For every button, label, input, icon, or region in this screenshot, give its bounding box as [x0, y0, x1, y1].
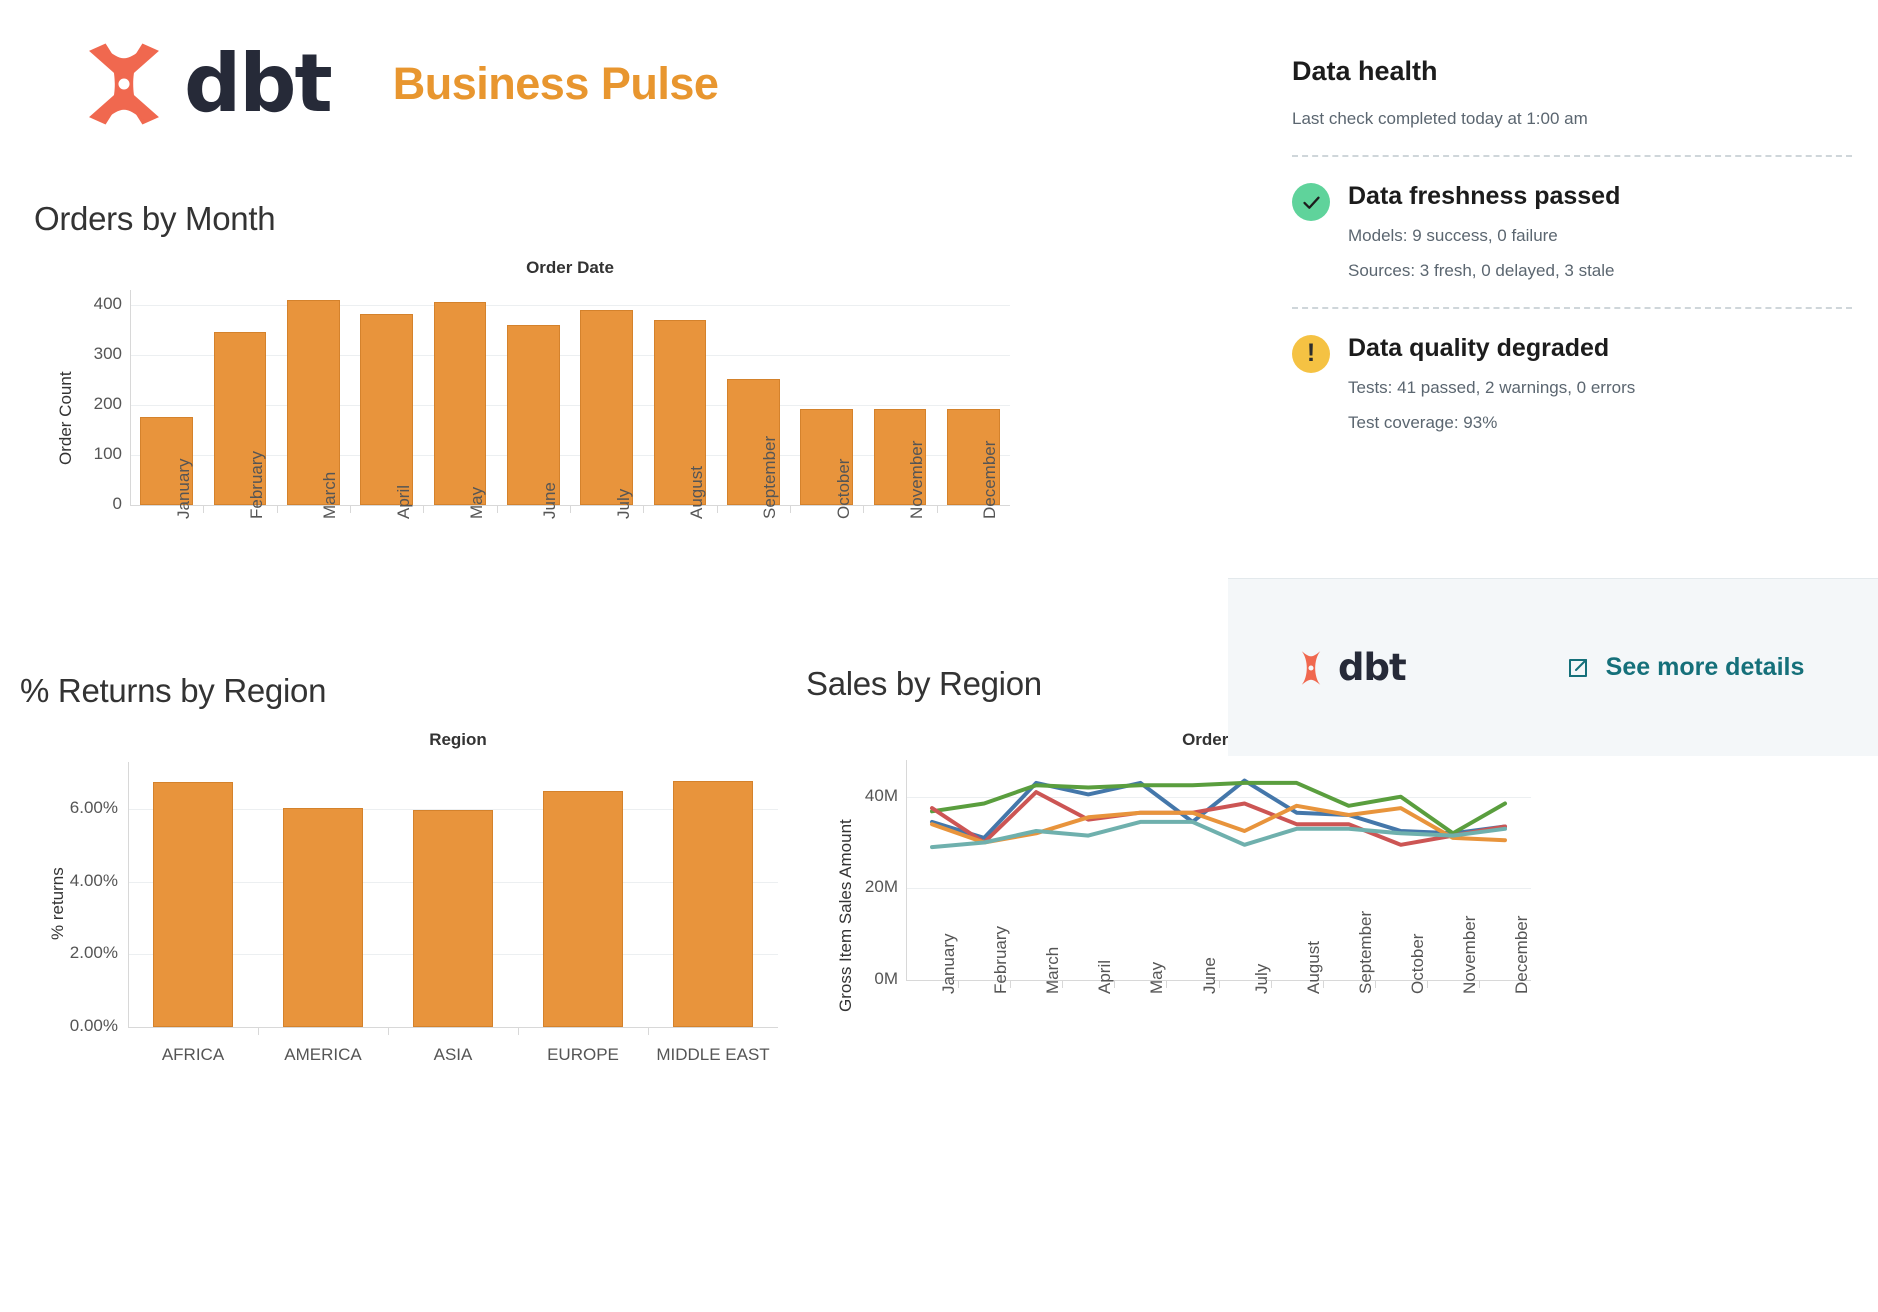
x-tick [350, 505, 351, 513]
x-tick [717, 505, 718, 513]
orders-by-month-chart: Order Date Order Count 0100200300400Janu… [0, 250, 1030, 650]
x-axis-label: November [1460, 916, 1480, 994]
x-tick [518, 1027, 519, 1035]
x-axis-label: April [1095, 960, 1115, 994]
x-axis-label: April [394, 485, 414, 519]
data-health-item-freshness: Data freshness passed Models: 9 success,… [1292, 181, 1852, 281]
warning-circle-icon: ! [1292, 335, 1330, 373]
y-tick-label: 300 [64, 344, 122, 364]
y-tick-label: 0 [64, 494, 122, 514]
y-tick-label: 0.00% [20, 1016, 118, 1036]
status-heading: Data freshness passed [1348, 181, 1620, 211]
x-axis-label: January [174, 459, 194, 519]
sales-by-region-chart: Order Date Gross Item Sales Amount 0M20M… [806, 722, 1878, 1112]
x-tick [790, 505, 791, 513]
bar[interactable] [413, 810, 494, 1027]
dashboard-header: dbt Business Pulse [78, 38, 718, 130]
sales-plot-area: 0M20M40MJanuaryFebruaryMarchAprilMayJune… [906, 760, 1531, 980]
status-detail: Tests: 41 passed, 2 warnings, 0 errors [1348, 378, 1635, 398]
status-detail: Test coverage: 93% [1348, 413, 1635, 433]
dashboard-page: dbt Business Pulse Orders by Month % Ret… [0, 0, 1878, 1312]
page-title: Business Pulse [393, 58, 719, 110]
x-tick [648, 1027, 649, 1035]
orders-chart-subtitle: Order Date [130, 258, 1010, 278]
bar[interactable] [283, 808, 364, 1027]
dbt-wordmark: dbt [184, 44, 331, 124]
x-axis-label: September [760, 436, 780, 519]
x-tick [937, 505, 938, 513]
bar[interactable] [360, 314, 413, 505]
x-axis-label: March [320, 472, 340, 519]
bar[interactable] [153, 782, 234, 1027]
dbt-wordmark: dbt [1338, 646, 1406, 689]
x-tick [423, 505, 424, 513]
x-axis-label: November [907, 441, 927, 519]
returns-chart-subtitle: Region [128, 730, 788, 750]
x-tick [388, 1027, 389, 1035]
bar[interactable] [434, 302, 487, 506]
dbt-logo: dbt [78, 38, 331, 130]
bar[interactable] [580, 310, 633, 506]
x-axis-label: May [467, 487, 487, 519]
bar[interactable] [673, 781, 754, 1027]
x-axis-label: January [939, 934, 959, 994]
x-tick [203, 505, 204, 513]
data-health-subtitle: Last check completed today at 1:00 am [1292, 109, 1852, 129]
divider [1292, 307, 1852, 309]
see-more-details-label: See more details [1606, 653, 1805, 682]
status-detail: Sources: 3 fresh, 0 delayed, 3 stale [1348, 261, 1620, 281]
x-axis-line [128, 1027, 778, 1028]
bar[interactable] [543, 791, 624, 1027]
x-tick [258, 1027, 259, 1035]
returns-plot-area: 0.00%2.00%4.00%6.00%AFRICAAMERICAASIAEUR… [128, 762, 778, 1027]
data-health-footer-card: dbt See more details [1228, 578, 1878, 756]
data-health-panel: Data health Last check completed today a… [1292, 56, 1852, 433]
y-axis-line [128, 762, 129, 1027]
orders-plot-area: 0100200300400JanuaryFebruaryMarchAprilMa… [130, 290, 1010, 505]
y-tick-label: 40M [848, 786, 898, 806]
returns-chart-title: % Returns by Region [20, 672, 326, 710]
status-detail: Models: 9 success, 0 failure [1348, 226, 1620, 246]
check-circle-icon [1292, 183, 1330, 221]
x-axis-label: December [1512, 916, 1532, 994]
y-tick-label: 0M [848, 969, 898, 989]
x-axis-label: August [687, 466, 707, 519]
x-axis-label: October [1408, 934, 1428, 994]
x-axis-label: June [540, 482, 560, 519]
y-tick-label: 6.00% [20, 798, 118, 818]
sales-chart-title: Sales by Region [806, 665, 1042, 703]
bar[interactable] [507, 325, 560, 506]
x-axis-label: February [991, 926, 1011, 994]
y-tick-label: 4.00% [20, 871, 118, 891]
external-link-icon [1566, 656, 1590, 680]
y-tick-label: 20M [848, 877, 898, 897]
y-gridline [130, 305, 1010, 306]
x-axis-label: March [1043, 947, 1063, 994]
divider [1292, 155, 1852, 157]
data-health-item-quality: ! Data quality degraded Tests: 41 passed… [1292, 333, 1852, 433]
y-tick-label: 2.00% [20, 943, 118, 963]
orders-chart-title: Orders by Month [34, 200, 275, 238]
x-axis-label: October [834, 459, 854, 519]
x-axis-label: February [247, 451, 267, 519]
dbt-mark-icon [1290, 647, 1332, 689]
x-tick [570, 505, 571, 513]
x-axis-label: EUROPE [518, 1045, 648, 1065]
x-axis-label: AMERICA [258, 1045, 388, 1065]
x-axis-label: ASIA [388, 1045, 518, 1065]
y-tick-label: 200 [64, 394, 122, 414]
dbt-mark-icon [78, 38, 170, 130]
x-axis-label: September [1356, 911, 1376, 994]
x-axis-label: December [980, 441, 1000, 519]
x-axis-label: July [1252, 964, 1272, 994]
x-tick [643, 505, 644, 513]
status-heading: Data quality degraded [1348, 333, 1635, 363]
returns-by-region-chart: Region % returns 0.00%2.00%4.00%6.00%AFR… [0, 722, 800, 1112]
y-tick-label: 400 [64, 294, 122, 314]
x-axis-label: AFRICA [128, 1045, 258, 1065]
y-tick-label: 100 [64, 444, 122, 464]
x-axis-label: July [614, 489, 634, 519]
x-axis-label: August [1304, 941, 1324, 994]
x-axis-label: June [1200, 957, 1220, 994]
x-tick [277, 505, 278, 513]
y-axis-line [130, 290, 131, 505]
x-axis-label: MIDDLE EAST [648, 1045, 778, 1065]
x-tick [863, 505, 864, 513]
x-axis-label: May [1147, 962, 1167, 994]
see-more-details-link[interactable]: See more details [1566, 653, 1805, 682]
x-tick [497, 505, 498, 513]
data-health-title: Data health [1292, 56, 1852, 87]
dbt-logo-small: dbt [1290, 646, 1406, 689]
